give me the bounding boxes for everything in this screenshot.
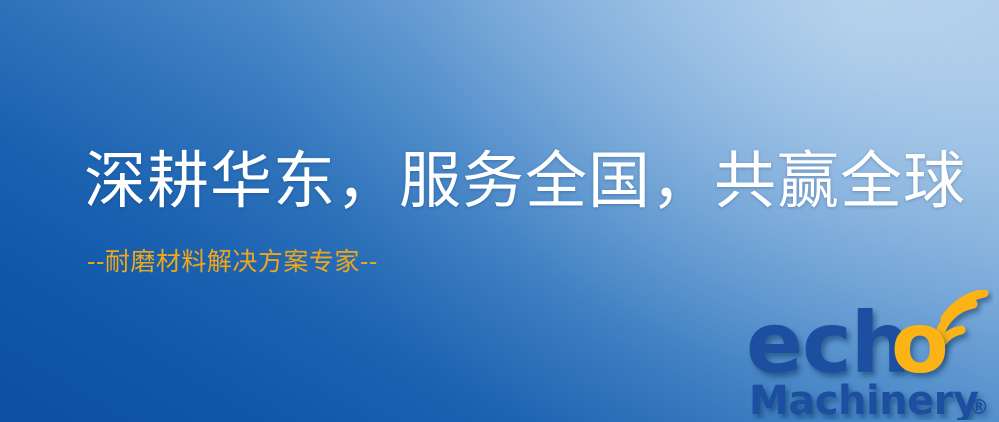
banner-text-block: 深耕华东，服务全国，共赢全球 --耐磨材料解决方案专家-- (84, 148, 966, 277)
logo-registered-mark: ® (969, 395, 989, 419)
hero-banner: 深耕华东，服务全国，共赢全球 --耐磨材料解决方案专家-- ech o (0, 0, 999, 422)
echo-machinery-logo[interactable]: ech o Machinery ® (741, 290, 993, 420)
banner-subtitle: --耐磨材料解决方案专家-- (84, 215, 966, 277)
logo-tagline: Machinery (749, 378, 979, 420)
banner-headline: 深耕华东，服务全国，共赢全球 (84, 148, 966, 215)
